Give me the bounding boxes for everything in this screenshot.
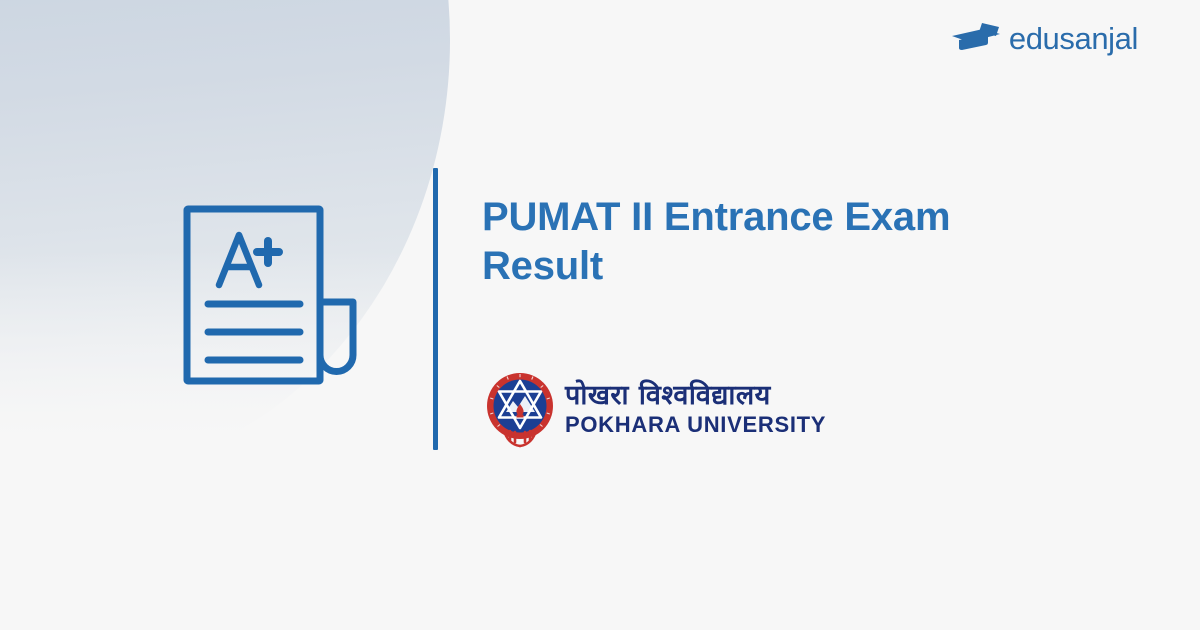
page-title: PUMAT II Entrance Exam Result [482, 193, 997, 291]
university-name-block: पोखरा विश्वविद्यालय POKHARA UNIVERSITY [565, 380, 826, 437]
university-name-english: POKHARA UNIVERSITY [565, 412, 826, 437]
result-certificate-icon [183, 205, 369, 385]
result-banner: edusanjal PUMAT [0, 0, 1200, 630]
edusanjal-logo[interactable]: edusanjal [950, 20, 1138, 56]
edusanjal-wordmark: edusanjal [1009, 23, 1138, 54]
graduation-cap-icon [950, 21, 1008, 55]
accent-divider [433, 168, 438, 450]
pokhara-university-emblem [484, 368, 556, 448]
university-name-nepali: पोखरा विश्वविद्यालय [565, 380, 826, 411]
content-column: PUMAT II Entrance Exam Result [482, 193, 1042, 291]
pokhara-university-logo: पोखरा विश्वविद्यालय POKHARA UNIVERSITY [484, 368, 826, 448]
